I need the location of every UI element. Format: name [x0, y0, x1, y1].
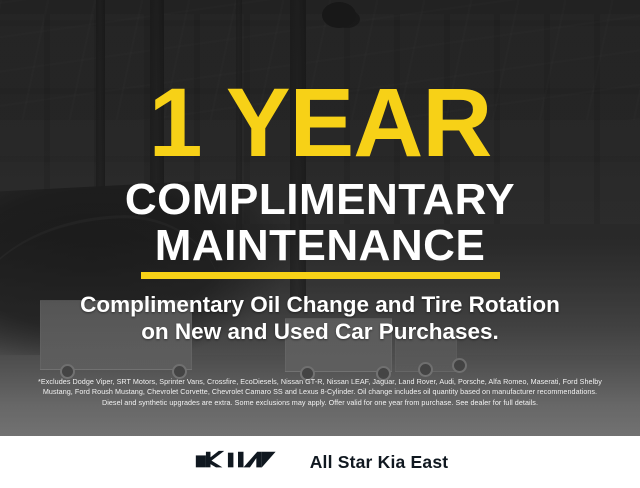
promotional-banner: 1 YEAR COMPLIMENTARY MAINTENANCE Complim…	[0, 0, 640, 488]
disclaimer-line-2: Mustang, Ford Roush Mustang, Chevrolet C…	[14, 387, 626, 397]
footer-brand-lockup: All Star Kia East	[192, 449, 449, 476]
headline-primary: 1 YEAR	[0, 74, 640, 171]
offer-subheadline-line2: on New and Used Car Purchases.	[30, 318, 610, 345]
legal-disclaimer: *Excludes Dodge Viper, SRT Motors, Sprin…	[14, 377, 626, 408]
disclaimer-line-1: *Excludes Dodge Viper, SRT Motors, Sprin…	[14, 377, 626, 387]
footer-bar: All Star Kia East	[0, 436, 640, 488]
accent-divider-bar	[141, 272, 500, 279]
offer-subheadline-line1: Complimentary Oil Change and Tire Rotati…	[30, 291, 610, 318]
offer-subheadline: Complimentary Oil Change and Tire Rotati…	[30, 291, 610, 345]
disclaimer-line-3: Diesel and synthetic upgrades are extra.…	[14, 398, 626, 408]
headline-secondary-line1: COMPLIMENTARY	[0, 178, 640, 222]
dealer-name-label: All Star Kia East	[310, 452, 449, 473]
banner-content: 1 YEAR COMPLIMENTARY MAINTENANCE Complim…	[0, 0, 640, 436]
headline-secondary-line2: MAINTENANCE	[0, 224, 640, 268]
kia-logo-icon	[192, 449, 284, 476]
